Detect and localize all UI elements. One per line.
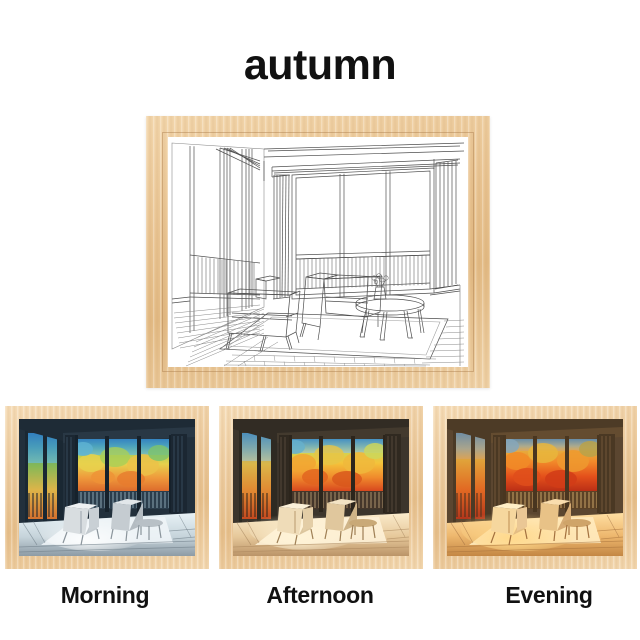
scene-morning (19, 419, 195, 556)
thumbnail-artwork-evening (447, 419, 623, 556)
scene-evening (447, 419, 623, 556)
variant-card-evening[interactable] (433, 406, 637, 569)
thumbnail-artwork-afternoon (233, 419, 409, 556)
hero-line-drawing (168, 137, 468, 367)
page-title: autumn (0, 44, 640, 87)
variant-card-morning[interactable] (5, 406, 209, 569)
variant-label-evening: Evening (449, 584, 640, 607)
thumbnail-frame-evening (433, 406, 637, 569)
variant-card-afternoon[interactable] (219, 406, 423, 569)
thumbnail-frame-afternoon (219, 406, 423, 569)
variant-label-afternoon: Afternoon (220, 584, 420, 607)
thumbnail-frame-morning (5, 406, 209, 569)
hero-artwork-mat (168, 137, 468, 367)
scene-afternoon (233, 419, 409, 556)
variant-label-morning: Morning (5, 584, 205, 607)
variant-thumbnail-row (0, 406, 640, 576)
thumbnail-artwork-morning (19, 419, 195, 556)
hero-picture-frame[interactable] (146, 116, 490, 388)
